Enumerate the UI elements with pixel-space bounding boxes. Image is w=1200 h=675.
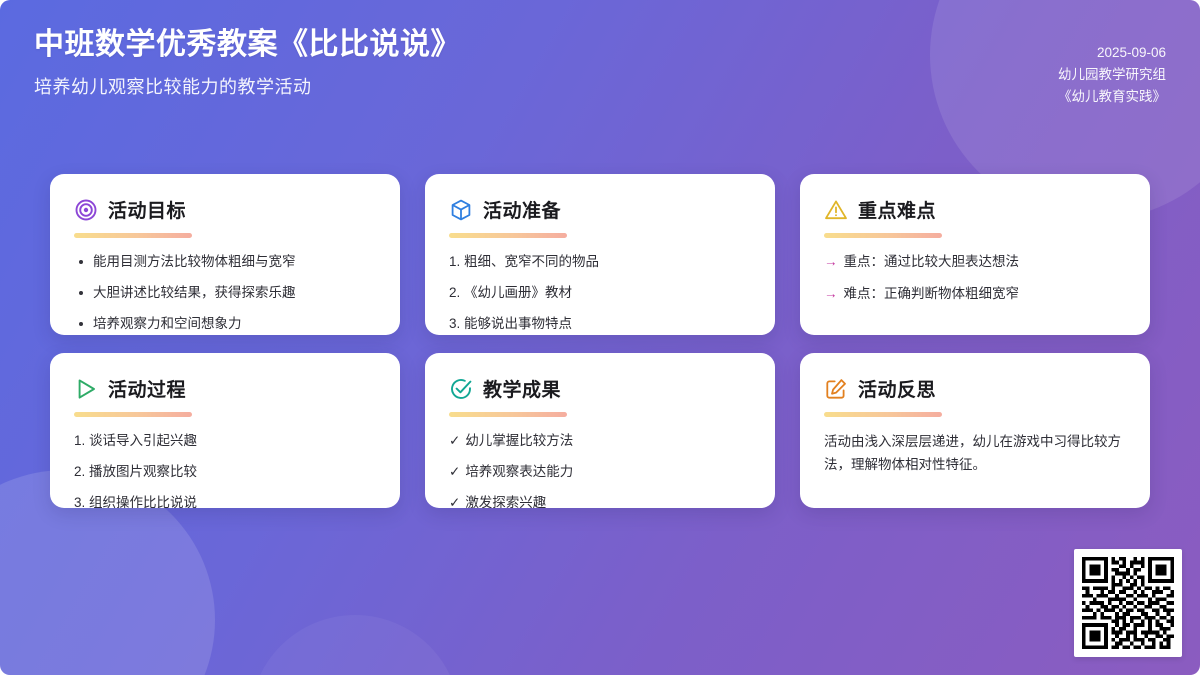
list-item: →重点：通过比较大胆表达想法: [824, 252, 1126, 273]
card-key-points-difficulties: 重点难点 →重点：通过比较大胆表达想法 →难点：正确判断物体粗细宽窄: [800, 174, 1150, 335]
list-item: 谈话导入引起兴趣: [74, 431, 376, 452]
check-marker: ✓: [449, 433, 460, 448]
list-item: 大胆讲述比较结果，获得探索乐趣: [74, 283, 376, 304]
title-underline: [449, 412, 567, 417]
card-activity-goals: 活动目标 能用目测方法比较物体粗细与宽窄 大胆讲述比较结果，获得探索乐趣 培养观…: [50, 174, 400, 335]
header-date: 2025-09-06: [1058, 42, 1166, 64]
warning-triangle-icon: [824, 198, 848, 222]
target-icon: [74, 198, 98, 222]
list-item: ✓激发探索兴趣: [449, 493, 751, 508]
goals-list: 能用目测方法比较物体粗细与宽窄 大胆讲述比较结果，获得探索乐趣 培养观察力和空间…: [74, 252, 376, 335]
list-item: 组织操作比比说说: [74, 493, 376, 508]
card-header: 活动准备: [449, 196, 751, 223]
list-item: 能用目测方法比较物体粗细与宽窄: [74, 252, 376, 273]
arrow-marker: →: [824, 254, 838, 269]
card-header: 活动目标: [74, 196, 376, 223]
page-title: 中班数学优秀教案《比比说说》: [34, 26, 461, 64]
card-body: 谈话导入引起兴趣 播放图片观察比较 组织操作比比说说: [74, 431, 376, 508]
qr-code-image: [1082, 557, 1174, 649]
card-title: 活动目标: [108, 196, 186, 223]
qr-code[interactable]: [1074, 549, 1182, 657]
header-publication: 《幼儿教育实践》: [1058, 86, 1166, 108]
reflection-text: 活动由浅入深层层递进，幼儿在游戏中习得比较方法，理解物体相对性特征。: [824, 431, 1126, 476]
header-meta-block: 2025-09-06 幼儿园教学研究组 《幼儿教育实践》: [1058, 26, 1166, 108]
process-list: 谈话导入引起兴趣 播放图片观察比较 组织操作比比说说: [74, 431, 376, 508]
title-underline: [449, 233, 567, 238]
list-item: →难点：正确判断物体粗细宽窄: [824, 284, 1126, 305]
card-title: 活动过程: [108, 375, 186, 402]
card-activity-process: 活动过程 谈话导入引起兴趣 播放图片观察比较 组织操作比比说说: [50, 353, 400, 508]
card-grid: 活动目标 能用目测方法比较物体粗细与宽窄 大胆讲述比较结果，获得探索乐趣 培养观…: [50, 174, 1150, 508]
list-item-text: 幼儿掌握比较方法: [465, 433, 573, 448]
header-organization: 幼儿园教学研究组: [1058, 64, 1166, 86]
slide-header: 中班数学优秀教案《比比说说》 培养幼儿观察比较能力的教学活动 2025-09-0…: [0, 0, 1200, 150]
page-subtitle: 培养幼儿观察比较能力的教学活动: [34, 73, 461, 99]
arrow-marker: →: [824, 286, 838, 301]
card-header: 活动过程: [74, 375, 376, 402]
title-underline: [824, 233, 942, 238]
cube-icon: [449, 198, 473, 222]
list-item-text: 激发探索兴趣: [465, 495, 546, 508]
card-title: 活动准备: [483, 196, 561, 223]
card-header: 活动反思: [824, 375, 1126, 402]
list-item: 培养观察力和空间想象力: [74, 314, 376, 335]
card-body: →重点：通过比较大胆表达想法 →难点：正确判断物体粗细宽窄: [824, 252, 1126, 305]
title-underline: [74, 233, 192, 238]
check-circle-icon: [449, 377, 473, 401]
list-item-text: 重点：通过比较大胆表达想法: [844, 254, 1020, 269]
results-list: ✓幼儿掌握比较方法 ✓培养观察表达能力 ✓激发探索兴趣: [449, 431, 751, 508]
play-triangle-icon: [74, 377, 98, 401]
preparation-list: 粗细、宽窄不同的物品 《幼儿画册》教材 能够说出事物特点: [449, 252, 751, 335]
card-header: 教学成果: [449, 375, 751, 402]
card-title: 活动反思: [858, 375, 936, 402]
card-activity-reflection: 活动反思 活动由浅入深层层递进，幼儿在游戏中习得比较方法，理解物体相对性特征。: [800, 353, 1150, 508]
card-body: 能用目测方法比较物体粗细与宽窄 大胆讲述比较结果，获得探索乐趣 培养观察力和空间…: [74, 252, 376, 335]
list-item: 粗细、宽窄不同的物品: [449, 252, 751, 273]
card-body: 粗细、宽窄不同的物品 《幼儿画册》教材 能够说出事物特点: [449, 252, 751, 335]
title-underline: [824, 412, 942, 417]
list-item: 播放图片观察比较: [74, 462, 376, 483]
slide-root: 中班数学优秀教案《比比说说》 培养幼儿观察比较能力的教学活动 2025-09-0…: [0, 0, 1200, 675]
list-item: 能够说出事物特点: [449, 314, 751, 335]
check-marker: ✓: [449, 495, 460, 508]
list-item: ✓培养观察表达能力: [449, 462, 751, 483]
card-title: 教学成果: [483, 375, 561, 402]
check-marker: ✓: [449, 464, 460, 479]
card-title: 重点难点: [858, 196, 936, 223]
list-item: 《幼儿画册》教材: [449, 283, 751, 304]
card-header: 重点难点: [824, 196, 1126, 223]
decorative-circle-bottom-middle: [250, 615, 460, 675]
card-activity-preparation: 活动准备 粗细、宽窄不同的物品 《幼儿画册》教材 能够说出事物特点: [425, 174, 775, 335]
key-points-list: →重点：通过比较大胆表达想法 →难点：正确判断物体粗细宽窄: [824, 252, 1126, 305]
title-underline: [74, 412, 192, 417]
card-body: 活动由浅入深层层递进，幼儿在游戏中习得比较方法，理解物体相对性特征。: [824, 431, 1126, 476]
list-item-text: 培养观察表达能力: [465, 464, 573, 479]
card-teaching-results: 教学成果 ✓幼儿掌握比较方法 ✓培养观察表达能力 ✓激发探索兴趣: [425, 353, 775, 508]
card-body: ✓幼儿掌握比较方法 ✓培养观察表达能力 ✓激发探索兴趣: [449, 431, 751, 508]
edit-square-icon: [824, 377, 848, 401]
list-item: ✓幼儿掌握比较方法: [449, 431, 751, 452]
header-left-block: 中班数学优秀教案《比比说说》 培养幼儿观察比较能力的教学活动: [34, 26, 461, 99]
list-item-text: 难点：正确判断物体粗细宽窄: [844, 286, 1020, 301]
